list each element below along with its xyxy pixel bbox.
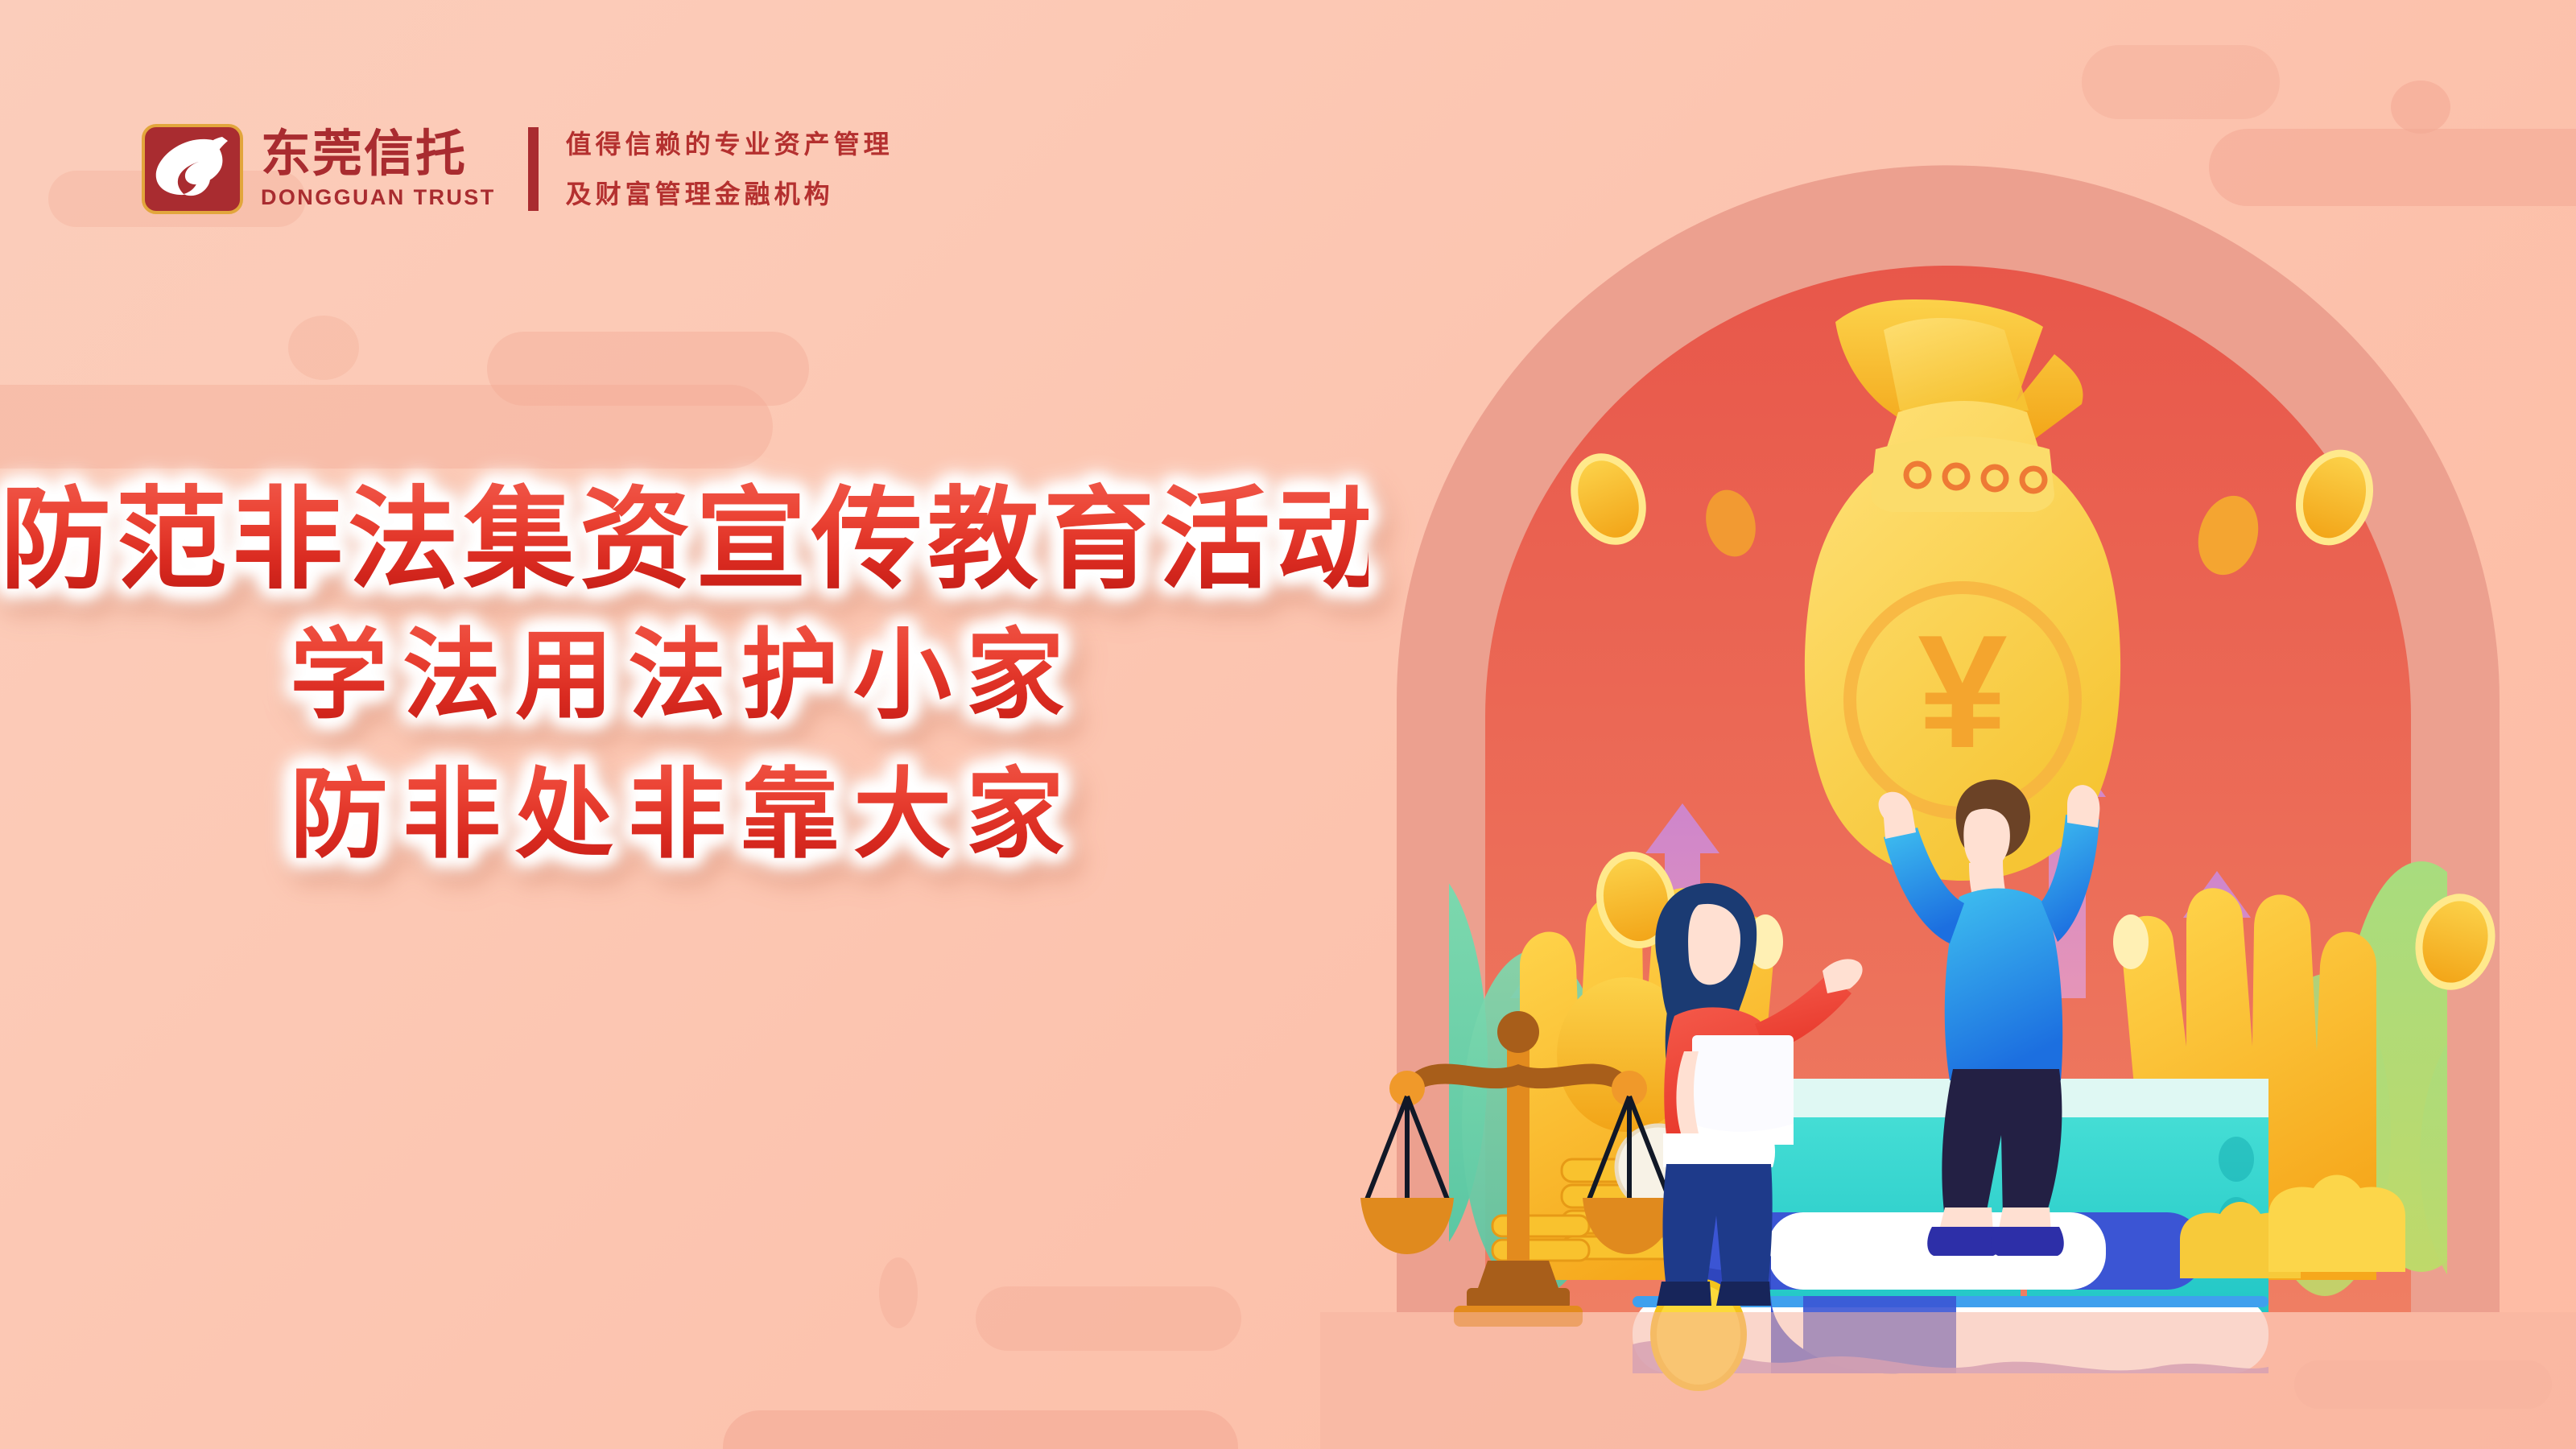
deco-pill — [0, 385, 773, 469]
headline-line-1: 防范非法集资宣传教育活动 — [0, 475, 1368, 606]
tagline-line-1: 值得信赖的专业资产管理 — [566, 119, 894, 169]
header-divider — [528, 127, 539, 211]
deco-pill — [288, 316, 359, 380]
yen-symbol: ¥ — [1918, 602, 2007, 782]
deco-pill — [879, 1257, 918, 1328]
deco-pill — [723, 1410, 1238, 1449]
deco-pill — [976, 1286, 1241, 1351]
ground-plane — [1320, 1312, 2576, 1449]
headline-line-3: 防非处非靠大家 — [0, 745, 1368, 885]
brand-header: 东莞信托 DONGGUAN TRUST 值得信赖的专业资产管理 及财富管理金融机… — [142, 119, 894, 220]
poster-canvas: 东莞信托 DONGGUAN TRUST 值得信赖的专业资产管理 及财富管理金融机… — [0, 0, 2576, 1449]
headline-block: 防范非法集资宣传教育活动 学法用法护小家 防非处非靠大家 — [0, 475, 1368, 885]
dongguan-trust-emblem-icon — [142, 124, 243, 214]
brand-tagline: 值得信赖的专业资产管理 及财富管理金融机构 — [566, 119, 894, 220]
brand-wordmark: 东莞信托 DONGGUAN TRUST — [261, 129, 496, 209]
brand-name-en: DONGGUAN TRUST — [261, 185, 496, 210]
tagline-line-2: 及财富管理金融机构 — [566, 169, 894, 219]
brand-name-cn: 东莞信托 — [261, 129, 496, 180]
anti-illegal-fundraising-illustration: ¥ — [1320, 89, 2576, 1449]
headline-line-2: 学法用法护小家 — [0, 606, 1368, 745]
